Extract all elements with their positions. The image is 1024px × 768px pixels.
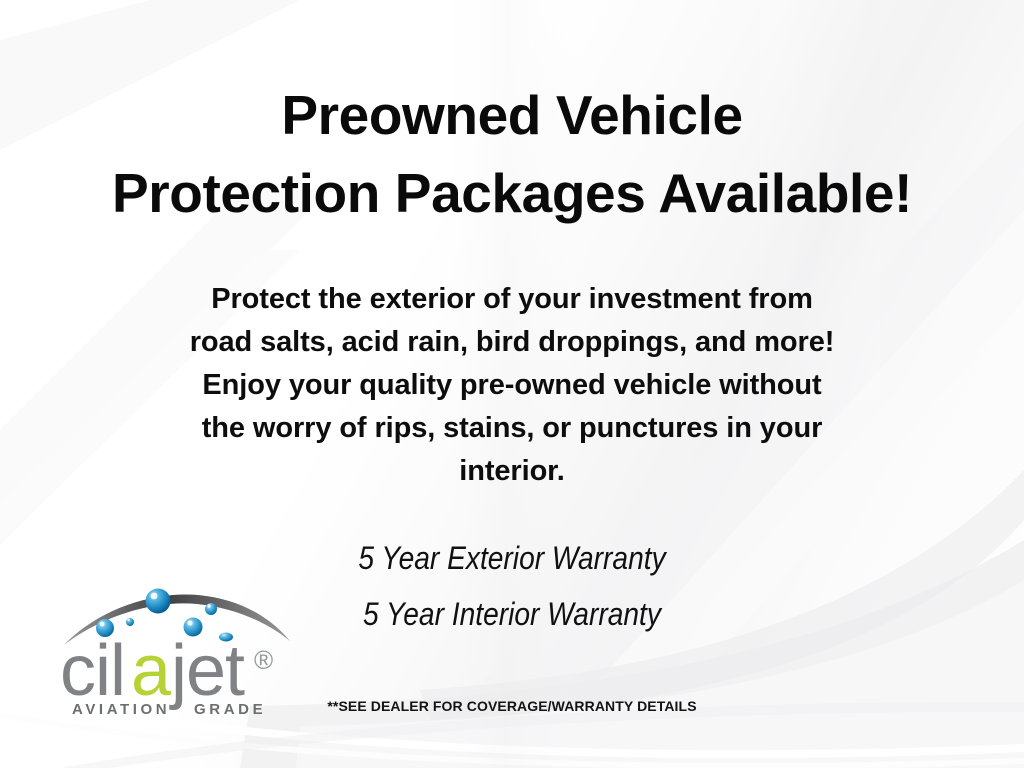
headline-line-1: Preowned Vehicle — [0, 76, 1024, 154]
logo-registered-mark: ® — [254, 645, 273, 675]
slide-canvas: Preowned Vehicle Protection Packages Ava… — [0, 0, 1024, 768]
body-line-4: the worry of rips, stains, or punctures … — [0, 407, 1024, 450]
body-line-3: Enjoy your quality pre-owned vehicle wit… — [0, 364, 1024, 407]
slide-content: Preowned Vehicle Protection Packages Ava… — [0, 0, 1024, 768]
logo-bubble-large — [146, 589, 171, 614]
body-line-5: interior. — [0, 450, 1024, 493]
body-line-2: road salts, acid rain, bird droppings, a… — [0, 321, 1024, 364]
logo-bubble-tiny — [126, 618, 134, 626]
body-copy: Protect the exterior of your investment … — [0, 278, 1024, 493]
body-line-1: Protect the exterior of your investment … — [0, 278, 1024, 321]
logo-bubble-small — [205, 603, 217, 615]
page-title: Preowned Vehicle Protection Packages Ava… — [0, 76, 1024, 232]
headline-line-2: Protection Packages Available! — [0, 154, 1024, 232]
logo-wordmark-a: a — [131, 631, 172, 711]
logo-tagline-aviation: AVIATION — [72, 701, 170, 718]
logo-wordmark-cil: cil — [60, 631, 125, 711]
logo-tagline-grade: GRADE — [194, 701, 266, 718]
logo-wordmark-jet: jet — [169, 631, 245, 711]
cilajet-logo: cil a jet ® AVIATION GRADE — [58, 583, 308, 718]
warranty-exterior: 5 Year Exterior Warranty — [61, 530, 962, 586]
